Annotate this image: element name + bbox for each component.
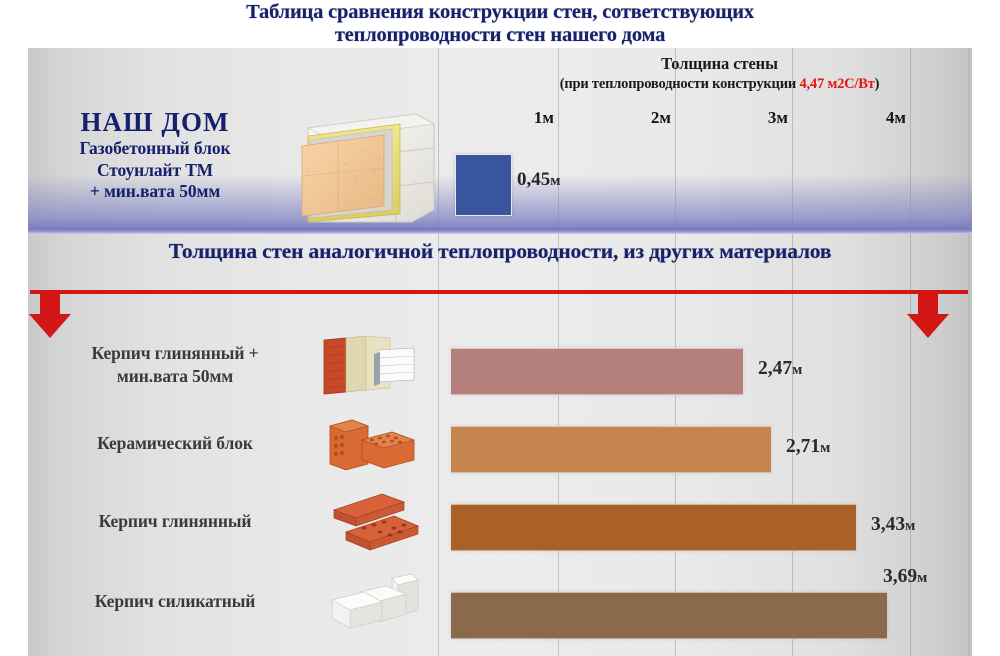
scale-subheading: (при теплопроводности конструкции 4,47 м… [467,74,972,94]
tick-text-3m: 3м [768,108,788,127]
tick-label-3m: 3м [768,108,792,128]
row-label-1: Керамический блок [30,432,320,455]
subtitle-text: Толщина стен аналогичной теплопроводност… [28,236,972,266]
bar-value-row-3: 3,69м [883,566,927,588]
our-house-heading: НАШ ДОМ [30,106,280,138]
table-row: Керамический блок [28,410,972,488]
bar-value-unit-our-house: м [550,173,560,189]
bar-row-0 [451,348,743,395]
ceramic-block-icon [318,414,424,476]
tick-text-1m: 1м [534,108,554,127]
bar-value-unit-row-3: м [917,570,927,586]
bar-value-number-row-2: 3,43 [871,514,905,535]
silicate-brick-icon [320,570,426,632]
bar-row-2 [451,504,856,551]
bar-value-row-2: 3,43м [871,514,915,536]
axis-tick-labels: 1м 2м 3м 4м [438,108,972,134]
our-house-label-block: НАШ ДОМ Газобетонный блок Стоунлайт ТМ +… [30,106,280,203]
tick-label-1m: 1м [534,108,558,128]
page-title: Таблица сравнения конструкции стен, сотв… [0,0,1000,48]
scale-sub-accent: 4,47 м2С/Вт [799,76,874,92]
material-rows: Керпич глинянный + мин.вата 50мм [28,296,972,656]
scale-header: Толщина стены (при теплопроводности конс… [467,53,972,105]
bar-our-house [455,154,512,216]
tick-label-4m: 4м [886,108,910,128]
tick-label-2m: 2м [651,108,675,128]
row-label-line2-0: мин.вата 50мм [30,365,320,388]
row-label-2: Керпич глинянный [30,510,320,533]
bar-row-3 [451,592,887,639]
table-row: Керпич силикатный 3,69м [28,566,972,652]
row-label-line1-1: Керамический блок [30,432,320,455]
title-line-1: Таблица сравнения конструкции стен, сотв… [246,1,754,24]
row-label-0: Керпич глинянный + мин.вата 50мм [30,342,320,388]
bar-row-1 [451,426,771,473]
table-row: Керпич глинянный + мин.вата 50мм [28,330,972,410]
bar-value-our-house: 0,45м [517,169,560,191]
subtitle-red-rule [30,290,968,294]
row-label-line1-2: Керпич глинянный [30,510,320,533]
bar-value-row-0: 2,47м [758,358,802,380]
bar-value-unit-row-0: м [792,362,802,378]
row-label-3: Керпич силикатный [30,590,320,613]
scale-heading: Толщина стены [467,53,972,74]
row-label-line1-0: Керпич глинянный + [30,342,320,365]
bar-value-number-row-1: 2,71 [786,436,820,457]
infographic-page: Таблица сравнения конструкции стен, сотв… [0,0,1000,656]
scale-sub-prefix: (при теплопроводности конструкции [560,76,800,92]
bar-value-number-our-house: 0,45 [517,169,550,190]
scale-sub-suffix: ) [875,76,880,92]
clay-brick-icon [320,490,426,552]
bar-value-unit-row-2: м [905,518,915,534]
bar-value-number-row-3: 3,69 [883,566,917,587]
table-row: Керпич глинянный [28,488,972,566]
title-line-2: теплопроводности стен нашего дома [335,24,665,47]
clay-brick-with-insulation-icon [318,336,424,398]
our-house-line-3: + мин.вата 50мм [30,181,280,203]
aerated-concrete-block-image [286,110,436,228]
bar-value-number-row-0: 2,47 [758,358,792,379]
bar-value-row-1: 2,71м [786,436,830,458]
tick-text-4m: 4м [886,108,906,127]
bar-value-unit-row-1: м [820,440,830,456]
tick-text-2m: 2м [651,108,671,127]
subtitle-banner: Толщина стен аналогичной теплопроводност… [28,234,972,292]
our-house-line-2: Стоунлайт ТМ [30,160,280,182]
our-house-line-1: Газобетонный блок [30,138,280,160]
row-label-line1-3: Керпич силикатный [30,590,320,613]
